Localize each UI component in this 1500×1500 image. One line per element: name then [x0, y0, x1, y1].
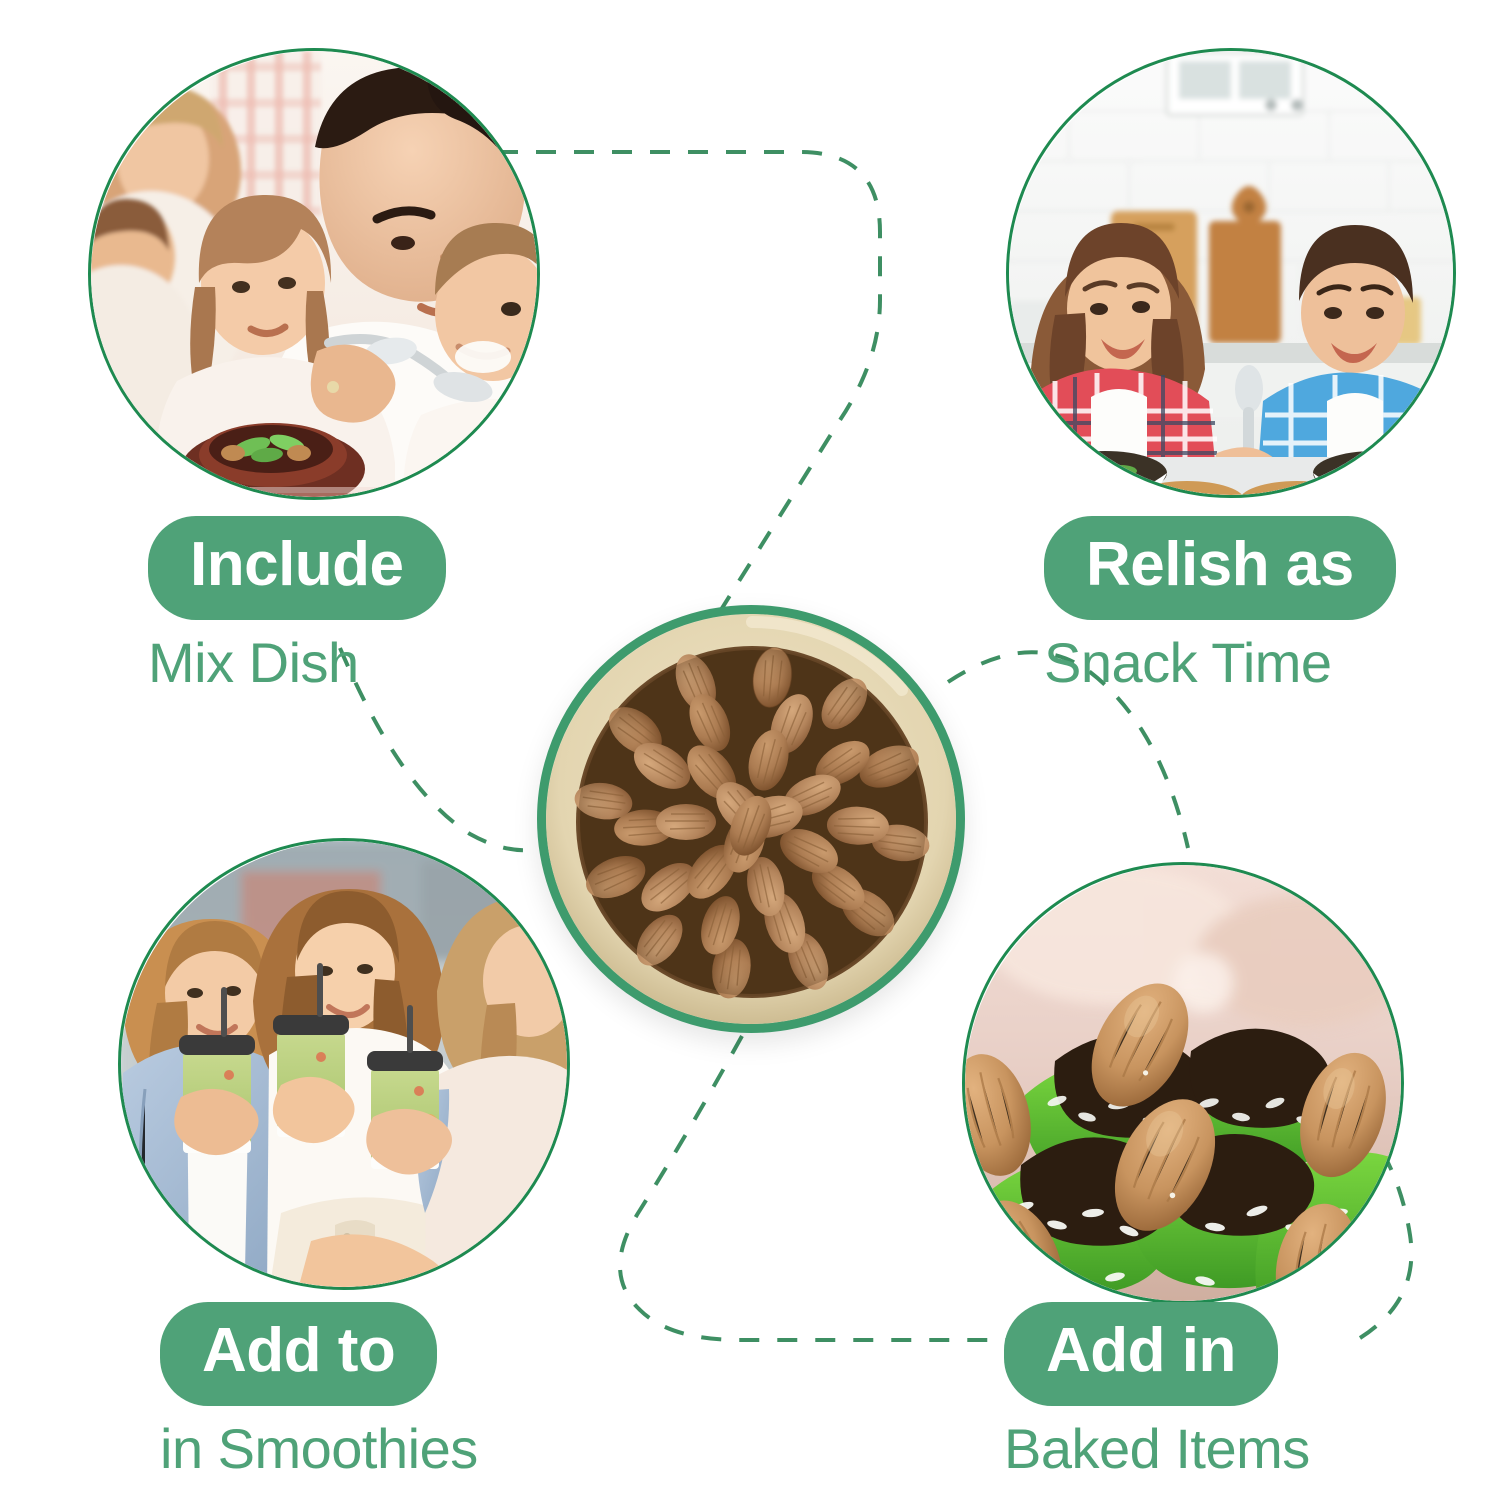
badge-relish[interactable]: Relish as — [1044, 516, 1396, 620]
family-eating-photo — [91, 51, 537, 497]
badge-include[interactable]: Include — [148, 516, 446, 620]
label-group-baked: Add in Baked Items — [1004, 1302, 1310, 1479]
photo-circle-include[interactable] — [88, 48, 540, 500]
label-group-relish: Relish as Snack Time — [1044, 516, 1396, 693]
photo-circle-smoothies[interactable] — [118, 838, 570, 1290]
subtitle-relish: Snack Time — [1044, 634, 1332, 693]
photo-circle-relish[interactable] — [1006, 48, 1456, 498]
label-group-include: Include Mix Dish — [148, 516, 446, 693]
subtitle-baked: Baked Items — [1004, 1420, 1310, 1479]
connector-include-to-center — [498, 152, 880, 672]
badge-smoothies[interactable]: Add to — [160, 1302, 437, 1406]
center-almond-bowl[interactable] — [537, 605, 965, 1033]
kids-kitchen-photo — [1009, 51, 1453, 495]
baked-sweets-photo — [965, 865, 1401, 1301]
photo-circle-baked[interactable] — [962, 862, 1404, 1304]
subtitle-include: Mix Dish — [148, 634, 359, 693]
label-group-smoothies: Add to in Smoothies — [160, 1302, 478, 1479]
infographic-canvas: Include Mix Dish Relish as Snack Time Ad… — [0, 0, 1500, 1500]
almond-bowl-photo — [546, 614, 956, 1024]
girls-smoothies-photo — [121, 841, 567, 1287]
connector-center-to-baked — [620, 1036, 1010, 1340]
subtitle-smoothies: in Smoothies — [160, 1420, 478, 1479]
badge-baked[interactable]: Add in — [1004, 1302, 1278, 1406]
